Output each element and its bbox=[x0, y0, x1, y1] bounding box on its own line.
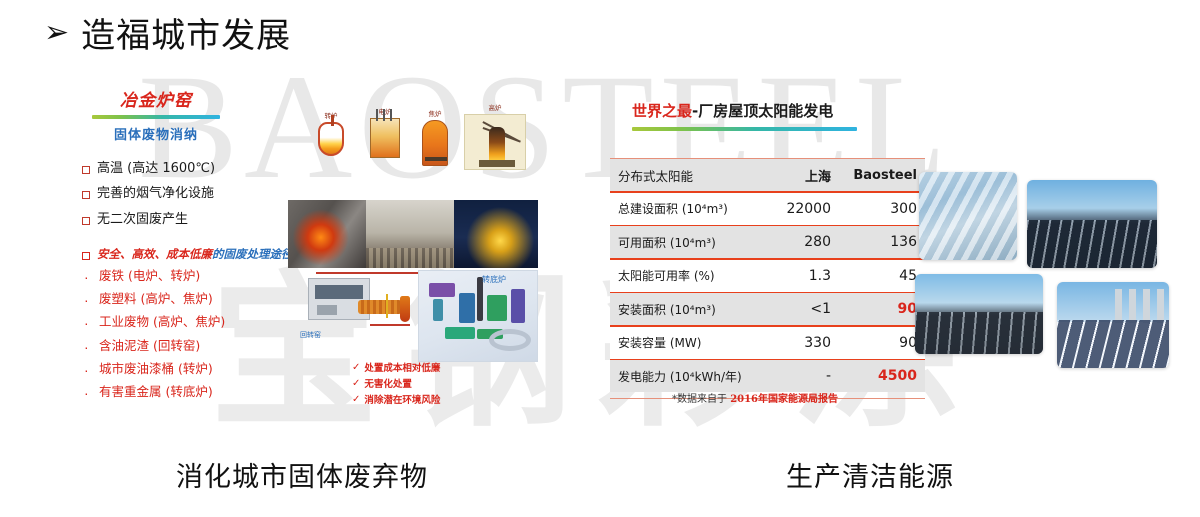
dot-bullet-icon: · bbox=[84, 384, 90, 402]
table-header-row: 分布式太阳能 上海 Baosteel bbox=[610, 159, 925, 191]
solar-plant-with-stacks-photo bbox=[1057, 282, 1169, 368]
square-bullet-icon bbox=[82, 252, 90, 260]
column-header-baosteel: Baosteel bbox=[843, 168, 917, 183]
waste-item-text: 含油泥渣 (回转窑) bbox=[99, 338, 200, 355]
bullet-text: 无二次固废产生 bbox=[97, 212, 188, 228]
waste-name: 有害重金属 bbox=[99, 384, 162, 399]
list-item: 完善的烟气净化设施 bbox=[82, 186, 322, 202]
check-icon: ✓ bbox=[352, 378, 360, 389]
waste-route: (高炉、焦炉) bbox=[153, 314, 225, 329]
rotary-hearth-diagram bbox=[418, 270, 538, 362]
waste-item-text: 废铁 (电炉、转炉) bbox=[99, 268, 200, 285]
list-item: · 废铁 (电炉、转炉) bbox=[84, 268, 314, 286]
coke-oven-figure: 焦炉 bbox=[422, 108, 448, 166]
table-row: 太阳能可用率 (%) 1.3 45 bbox=[610, 260, 925, 292]
furnace-label: 高炉 bbox=[489, 102, 502, 112]
highlight-text: 安全、高效、成本低廉的固废处理途径 bbox=[97, 248, 293, 262]
footnote-source: 2016年国家能源局报告 bbox=[730, 394, 838, 405]
dot-bullet-icon: · bbox=[84, 338, 90, 356]
list-item: ✓ 消除潜在环境风险 bbox=[352, 392, 440, 406]
bullet-text: 高温 (高达 1600℃) bbox=[97, 161, 215, 177]
table-footnote: *数据来自于 2016年国家能源局报告 bbox=[672, 390, 838, 405]
waste-item-text: 有害重金属 (转底炉) bbox=[99, 384, 213, 401]
waste-item-text: 工业废物 (高炉、焦炉) bbox=[99, 314, 225, 331]
right-panel: 世界之最-厂房屋顶太阳能发电 分布式太阳能 上海 Baosteel 总建设面积 … bbox=[600, 0, 1200, 517]
waste-route: (高炉、焦炉) bbox=[141, 291, 213, 306]
dot-bullet-icon: · bbox=[84, 314, 90, 332]
rooftop-solar-array-photo bbox=[1027, 180, 1157, 268]
list-item: · 城市废油漆桶 (转炉) bbox=[84, 361, 314, 379]
waste-route: (回转窑) bbox=[153, 338, 200, 353]
row-label: 安装容量 (MW) bbox=[618, 334, 757, 351]
cell-shanghai: 330 bbox=[757, 335, 843, 351]
highlight-tail-blue: 的固废处理途径 bbox=[212, 247, 293, 261]
cell-shanghai: 1.3 bbox=[757, 268, 843, 284]
left-header-gradient-bar bbox=[92, 115, 220, 119]
list-item: · 含油泥渣 (回转窑) bbox=[84, 338, 314, 356]
cell-shanghai: 22000 bbox=[757, 201, 843, 217]
plant-interior-photo bbox=[366, 200, 454, 268]
left-caption: 消化城市固体废弃物 bbox=[176, 455, 428, 494]
list-item: 高温 (高达 1600℃) bbox=[82, 161, 322, 177]
cyclone-shape bbox=[400, 296, 410, 322]
list-item: ✓ 无害化处置 bbox=[352, 376, 440, 390]
right-header-red: 世界之最 bbox=[632, 102, 692, 120]
electric-furnace-figure: 电炉 bbox=[370, 106, 400, 158]
rotary-kiln-diagram bbox=[300, 278, 420, 353]
electric-furnace-icon bbox=[370, 118, 400, 158]
highlight-bold-red: 安全、高效、成本低廉 bbox=[97, 247, 212, 261]
row-label: 太阳能可用率 (%) bbox=[618, 267, 757, 284]
cell-baosteel: 90 bbox=[843, 301, 917, 317]
check-icon: ✓ bbox=[352, 394, 360, 405]
industrial-photo-strip bbox=[288, 200, 538, 268]
table-row: 安装面积 (10⁴m³) <1 90 bbox=[610, 293, 925, 325]
waste-name: 废塑料 bbox=[99, 291, 137, 306]
list-item: ✓ 处置成本相对低廉 bbox=[352, 360, 440, 374]
dot-bullet-icon: · bbox=[84, 361, 90, 379]
slide-root: BAOSTEEL 宝钢彩涂 ➢ 造福城市发展 冶金炉窑 固体废物消纳 高温 (高… bbox=[0, 0, 1200, 517]
list-item: · 废塑料 (高炉、焦炉) bbox=[84, 291, 314, 309]
cell-shanghai: - bbox=[757, 368, 843, 384]
right-header-title: 世界之最-厂房屋顶太阳能发电 bbox=[632, 100, 857, 121]
right-header-black: -厂房屋顶太阳能发电 bbox=[692, 102, 833, 120]
dot-bullet-icon: · bbox=[84, 291, 90, 309]
blast-furnace-figure: 高炉 bbox=[464, 102, 526, 170]
cell-baosteel: 4500 bbox=[843, 368, 917, 384]
dot-bullet-icon: · bbox=[84, 268, 90, 286]
list-item: 无二次固废产生 bbox=[82, 212, 322, 228]
coke-oven-icon bbox=[422, 120, 448, 166]
right-header-gradient-bar bbox=[632, 127, 857, 131]
row-label: 发电能力 (10⁴kWh/年) bbox=[618, 368, 757, 385]
left-panel: 冶金炉窑 固体废物消纳 高温 (高达 1600℃) 完善的烟气净化设施 无二次固… bbox=[0, 0, 600, 517]
left-bullet-list: 高温 (高达 1600℃) 完善的烟气净化设施 无二次固废产生 bbox=[82, 161, 322, 237]
left-header-title: 冶金炉窑 bbox=[92, 92, 220, 111]
check-text: 无害化处置 bbox=[364, 376, 412, 390]
converter-icon bbox=[318, 122, 344, 156]
night-plant-photo bbox=[454, 200, 538, 268]
solar-comparison-table: 分布式太阳能 上海 Baosteel 总建设面积 (10⁴m³) 22000 3… bbox=[610, 158, 925, 399]
left-panel-header: 冶金炉窑 固体废物消纳 bbox=[92, 92, 220, 143]
rotary-kiln-label: 回转窑 bbox=[300, 330, 321, 340]
square-bullet-icon bbox=[82, 217, 90, 225]
square-bullet-icon bbox=[82, 191, 90, 199]
cell-baosteel: 136 bbox=[843, 234, 917, 250]
page-title: ➢ 造福城市发展 bbox=[44, 8, 291, 57]
kiln-drum-shape bbox=[358, 300, 402, 314]
column-header-metric: 分布式太阳能 bbox=[618, 166, 757, 185]
check-icon: ✓ bbox=[352, 362, 360, 373]
hearth-ring-shape bbox=[489, 329, 531, 351]
cell-baosteel: 90 bbox=[843, 335, 917, 351]
row-label: 安装面积 (10⁴m³) bbox=[618, 301, 757, 318]
waste-name: 含油泥渣 bbox=[99, 338, 149, 353]
footnote-prefix: *数据来自于 bbox=[672, 394, 730, 405]
waste-name: 废铁 bbox=[99, 268, 124, 283]
factory-roof-solar-photo bbox=[915, 274, 1043, 354]
right-caption: 生产清洁能源 bbox=[786, 455, 954, 494]
list-item: · 有害重金属 (转底炉) bbox=[84, 384, 314, 402]
blast-furnace-icon bbox=[464, 114, 526, 170]
ladle-photo bbox=[288, 200, 366, 268]
row-label: 可用面积 (10⁴m³) bbox=[618, 234, 757, 251]
waste-name: 工业废物 bbox=[99, 314, 149, 329]
furnace-label: 电炉 bbox=[379, 106, 392, 116]
column-header-shanghai: 上海 bbox=[757, 166, 843, 185]
left-header-subtitle: 固体废物消纳 bbox=[92, 124, 220, 143]
check-text: 处置成本相对低廉 bbox=[364, 360, 440, 374]
table-row: 安装容量 (MW) 330 90 bbox=[610, 327, 925, 359]
page-title-text: 造福城市发展 bbox=[81, 8, 291, 57]
waste-route: (转炉) bbox=[178, 361, 213, 376]
solar-photo-grid bbox=[915, 172, 1193, 377]
cell-shanghai: 280 bbox=[757, 234, 843, 250]
square-bullet-icon bbox=[82, 166, 90, 174]
bullet-text: 完善的烟气净化设施 bbox=[97, 186, 214, 202]
cell-baosteel: 45 bbox=[843, 268, 917, 284]
waste-item-text: 废塑料 (高炉、焦炉) bbox=[99, 291, 213, 308]
row-label: 总建设面积 (10⁴m³) bbox=[618, 200, 757, 217]
check-text: 消除潜在环境风险 bbox=[364, 392, 440, 406]
waste-item-text: 城市废油漆桶 (转炉) bbox=[99, 361, 213, 378]
cell-shanghai: <1 bbox=[757, 301, 843, 317]
solar-panel-closeup-photo bbox=[919, 172, 1017, 260]
waste-route: (电炉、转炉) bbox=[128, 268, 200, 283]
arrow-bullet-icon: ➢ bbox=[44, 18, 69, 48]
waste-route: (转底炉) bbox=[166, 384, 213, 399]
right-panel-header: 世界之最-厂房屋顶太阳能发电 bbox=[632, 100, 857, 131]
furnace-illustration-strip: 转炉 电炉 焦炉 高炉 bbox=[318, 100, 538, 195]
table-row: 发电能力 (10⁴kWh/年) - 4500 bbox=[610, 360, 925, 392]
furnace-label: 焦炉 bbox=[429, 108, 442, 118]
cell-baosteel: 300 bbox=[843, 201, 917, 217]
benefit-check-list: ✓ 处置成本相对低廉 ✓ 无害化处置 ✓ 消除潜在环境风险 bbox=[352, 360, 440, 408]
table-row: 可用面积 (10⁴m³) 280 136 bbox=[610, 226, 925, 258]
waste-name: 城市废油漆桶 bbox=[99, 361, 174, 376]
waste-route-list: · 废铁 (电炉、转炉) · 废塑料 (高炉、焦炉) · 工业废物 (高炉、焦炉… bbox=[84, 268, 314, 407]
list-item: · 工业废物 (高炉、焦炉) bbox=[84, 314, 314, 332]
rotary-hearth-label: 转底炉 bbox=[482, 274, 506, 285]
converter-furnace-figure: 转炉 bbox=[318, 110, 344, 156]
table-row: 总建设面积 (10⁴m³) 22000 300 bbox=[610, 193, 925, 225]
